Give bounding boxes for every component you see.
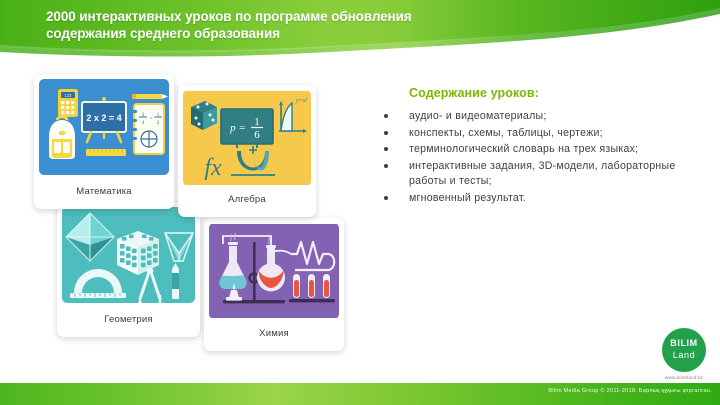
- ruler-icon: [86, 149, 126, 156]
- svg-text:4: 4: [142, 120, 145, 126]
- list-item-text: мгновенный результат.: [409, 192, 526, 204]
- svg-text:123: 123: [65, 93, 73, 98]
- card-algebra[interactable]: p = 1 6 y=x²: [178, 85, 316, 217]
- bullet-dot-icon: [384, 147, 388, 151]
- card-label-algebra: Алгебра: [178, 181, 316, 217]
- content-bullet-list: аудио- и видеоматериалы; конспекты, схем…: [376, 109, 706, 207]
- pencil-icon: [132, 94, 168, 99]
- blackboard-icon: 2 x 2 = 4: [82, 97, 126, 142]
- footer-copyright: Bilim Media Group © 2011-2018. Барлық құ…: [548, 388, 712, 394]
- bullet-dot-icon: [384, 164, 388, 168]
- logo-url: www.bilimland.kz: [655, 375, 713, 380]
- chemistry-illustration: [209, 223, 339, 319]
- list-item: терминологический словарь на трех языках…: [376, 142, 706, 158]
- bullet-dot-icon: [384, 131, 388, 135]
- card-chemistry[interactable]: Химия: [204, 218, 344, 351]
- bullet-dot-icon: [384, 196, 388, 200]
- logo-line-1: BILIM: [662, 338, 706, 348]
- list-item: аудио- и видеоматериалы;: [376, 109, 706, 125]
- logo-circle-icon: BILIM Land: [662, 328, 706, 372]
- list-item-text: конспекты, схемы, таблицы, чертежи;: [409, 127, 603, 139]
- list-item: интерактивные задания, 3D-модели, лабора…: [376, 159, 706, 190]
- slide-footer: Bilim Media Group © 2011-2018. Барлық құ…: [0, 383, 720, 405]
- slide-root: 2000 интерактивных уроков по программе о…: [0, 0, 720, 405]
- content-title: Содержание уроков:: [409, 86, 706, 100]
- card-label-geometry: Геометрия: [57, 301, 200, 337]
- blackboard-icon: p = 1 6: [221, 109, 273, 148]
- svg-text:2: 2: [157, 120, 160, 126]
- card-geometry[interactable]: Геометрия: [57, 202, 200, 337]
- svg-text:y=x²: y=x²: [295, 98, 307, 104]
- list-item-text: интерактивные задания, 3D-модели, лабора…: [409, 160, 676, 188]
- subject-cards: 123: [0, 0, 400, 405]
- svg-text:p =: p =: [229, 122, 246, 134]
- card-label-chemistry: Химия: [204, 315, 344, 351]
- list-item: мгновенный результат.: [376, 191, 706, 207]
- geometry-illustration: [62, 207, 195, 303]
- lesson-content-panel: Содержание уроков: аудио- и видеоматериа…: [376, 86, 706, 208]
- calculator-icon: 123: [58, 89, 78, 117]
- algebra-illustration: p = 1 6 y=x²: [183, 90, 311, 186]
- list-item-text: терминологический словарь на трех языках…: [409, 143, 638, 155]
- svg-text:1: 1: [254, 116, 260, 128]
- svg-text:fx: fx: [204, 155, 222, 181]
- math-illustration: 123: [39, 79, 169, 175]
- notebook-icon: 2 4 = 1 2: [130, 104, 164, 154]
- logo-line-2: Land: [662, 350, 706, 360]
- card-label-math: Математика: [34, 173, 174, 209]
- function-icon: fx: [204, 155, 222, 181]
- svg-text:2 x 2 = 4: 2 x 2 = 4: [86, 113, 121, 123]
- svg-text:6: 6: [254, 129, 260, 141]
- bullet-dot-icon: [384, 114, 388, 118]
- bilimland-logo[interactable]: BILIM Land www.bilimland.kz: [655, 328, 713, 380]
- list-item: конспекты, схемы, таблицы, чертежи;: [376, 126, 706, 142]
- list-item-text: аудио- и видеоматериалы;: [409, 110, 547, 122]
- svg-text:=: =: [150, 117, 153, 122]
- card-math[interactable]: 123: [34, 74, 174, 209]
- pencil-icon: [172, 263, 179, 299]
